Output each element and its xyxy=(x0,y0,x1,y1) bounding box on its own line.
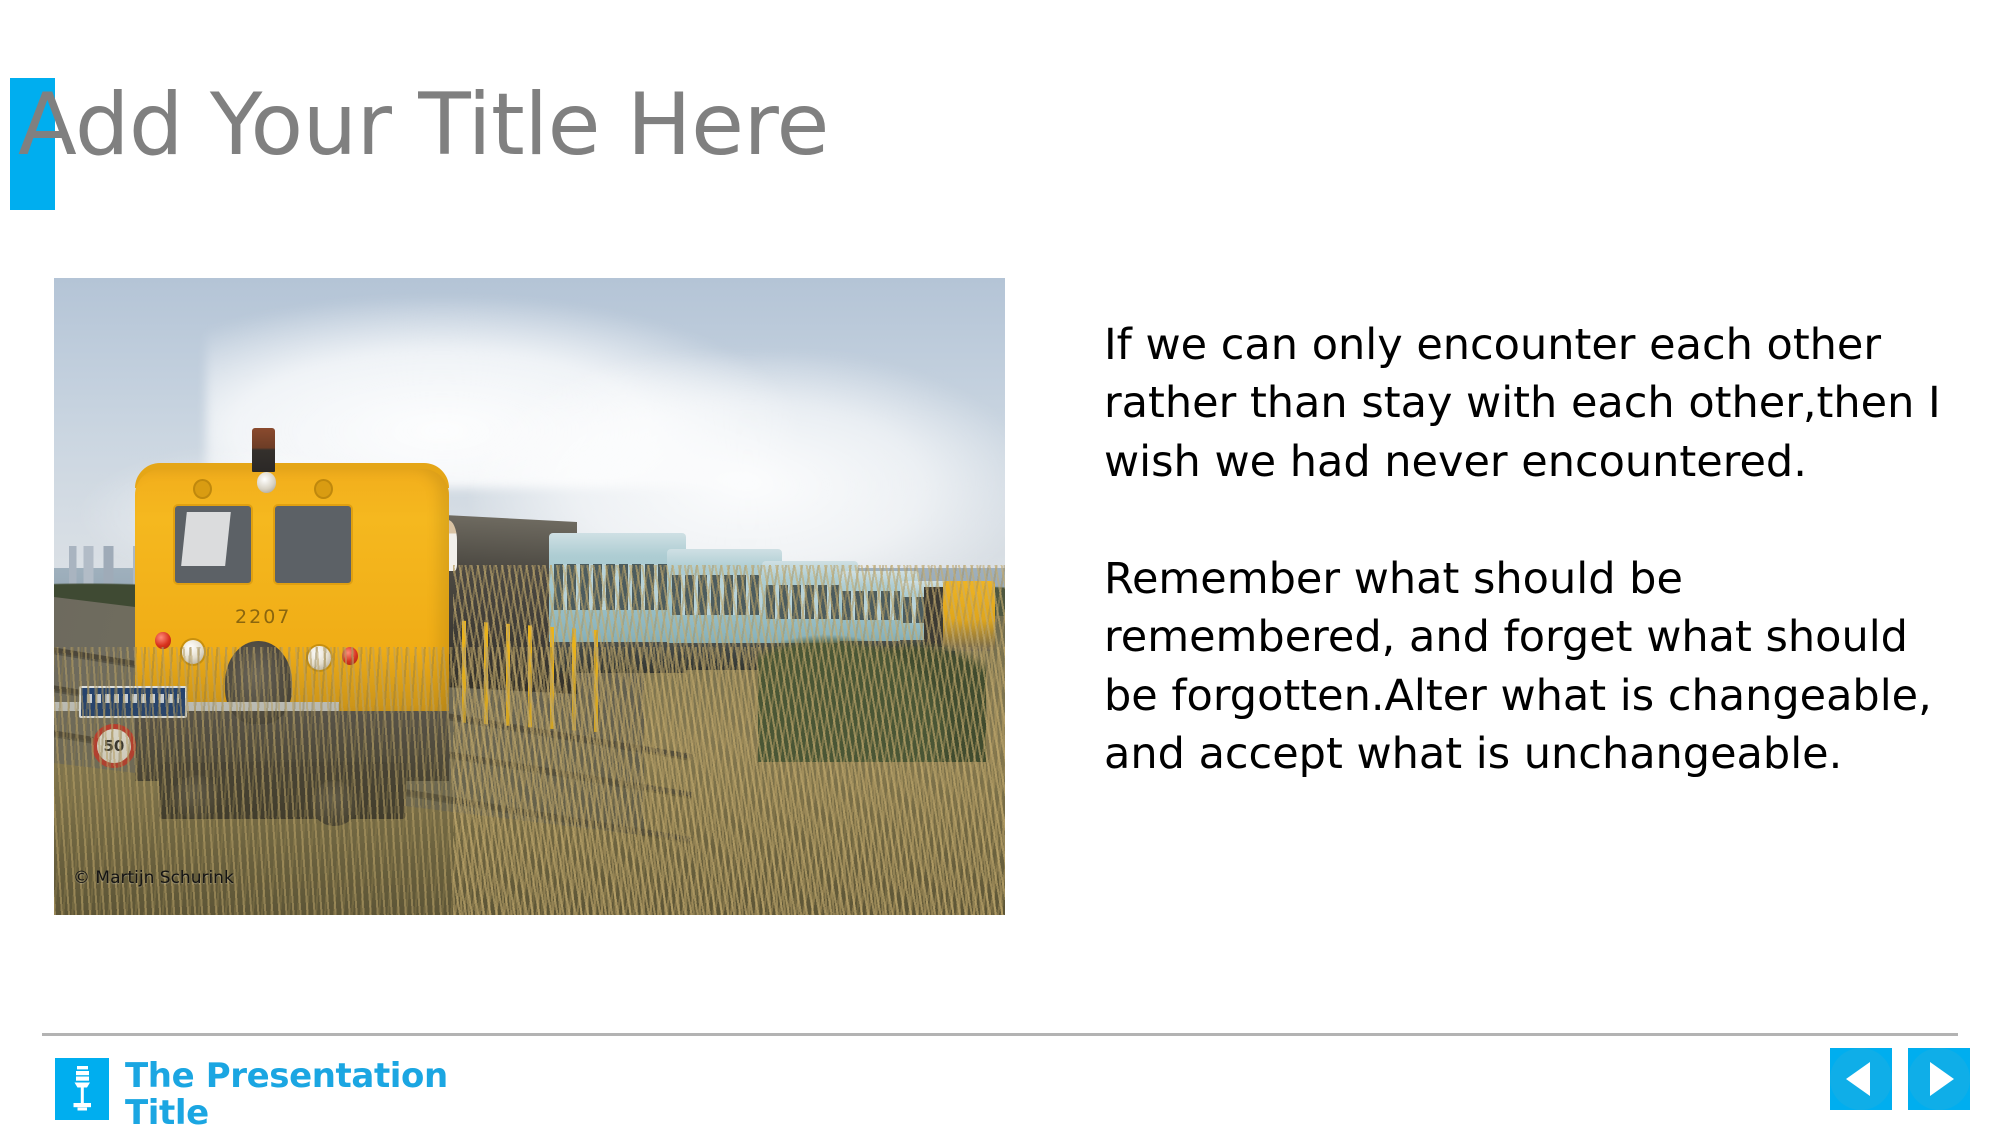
footer-navigation xyxy=(1830,1048,1970,1110)
photo-locomotive-marker-lamp xyxy=(252,428,275,473)
page-title: Add Your Title Here xyxy=(18,80,829,170)
brand-logo xyxy=(55,1058,109,1120)
photo-credit-watermark: © Martijn Schurink xyxy=(73,868,234,888)
paragraph-spacer xyxy=(1104,491,1954,549)
photo-locomotive-vent xyxy=(314,479,333,500)
previous-slide-button[interactable] xyxy=(1830,1048,1892,1110)
triangle-right-icon xyxy=(1930,1062,1954,1096)
footer-brand: The Presentation Title xyxy=(55,1058,485,1131)
photo-locomotive-headlamp xyxy=(257,472,276,492)
presentation-slide: Add Your Title Here xyxy=(0,0,2000,1125)
slide-body-text: If we can only encounter each other rath… xyxy=(1104,316,1954,784)
footer-divider xyxy=(42,1033,1958,1036)
photo-locomotive-number: 2207 xyxy=(187,606,339,628)
body-paragraph-1: If we can only encounter each other rath… xyxy=(1104,316,1954,491)
photo-cab-window xyxy=(173,504,253,584)
photo-tall-grass xyxy=(453,565,1005,915)
microphone-icon xyxy=(55,1058,109,1120)
photo-cab-window xyxy=(273,504,353,584)
slide-image: 2207 50 © Martijn Schurink xyxy=(54,278,1005,915)
footer-brand-title: The Presentation Title xyxy=(125,1058,485,1131)
next-slide-button[interactable] xyxy=(1908,1048,1970,1110)
triangle-left-icon xyxy=(1846,1062,1870,1096)
photo-locomotive-vent xyxy=(193,479,212,500)
body-paragraph-2: Remember what should be remembered, and … xyxy=(1104,550,1954,784)
